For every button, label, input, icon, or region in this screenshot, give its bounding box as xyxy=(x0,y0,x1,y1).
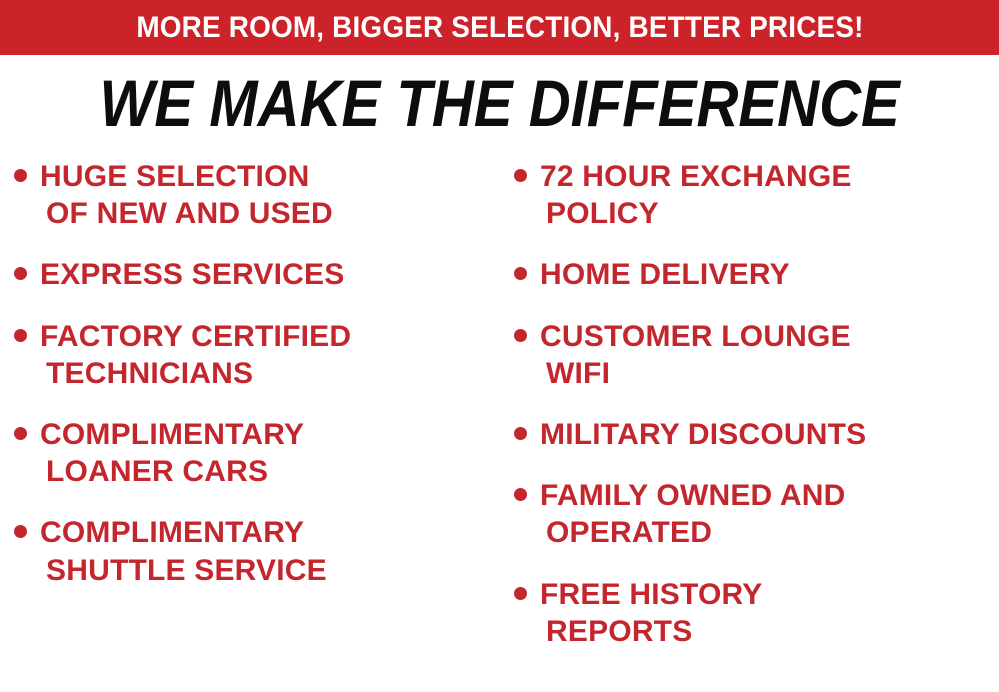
list-item: 72 HOUR EXCHANGEPOLICY xyxy=(514,158,999,232)
list-item-line2: POLICY xyxy=(540,195,852,232)
bullet-dot-icon xyxy=(514,267,527,280)
list-item-line2: REPORTS xyxy=(540,613,762,650)
list-item-line1: COMPLIMENTARY xyxy=(40,516,304,549)
list-item-label: HUGE SELECTIONOF NEW AND USED xyxy=(40,158,333,232)
bullet-dot-icon xyxy=(14,427,27,440)
list-item-label: COMPLIMENTARYSHUTTLE SERVICE xyxy=(40,514,327,588)
promo-banner: MORE ROOM, BIGGER SELECTION, BETTER PRIC… xyxy=(0,0,999,55)
list-item-line2: SHUTTLE SERVICE xyxy=(40,552,327,589)
bullet-dot-icon xyxy=(14,525,27,538)
list-item: MILITARY DISCOUNTS xyxy=(514,416,999,453)
bullet-dot-icon xyxy=(14,169,27,182)
list-item-label: HOME DELIVERY xyxy=(540,256,790,293)
promo-banner-text: MORE ROOM, BIGGER SELECTION, BETTER PRIC… xyxy=(136,13,863,43)
bullet-dot-icon xyxy=(514,488,527,501)
list-item-label: FACTORY CERTIFIEDTECHNICIANS xyxy=(40,318,351,392)
list-item-line1: FAMILY OWNED AND xyxy=(540,479,845,512)
list-item-label: COMPLIMENTARYLOANER CARS xyxy=(40,416,304,490)
list-item: COMPLIMENTARYSHUTTLE SERVICE xyxy=(14,514,494,588)
bullet-dot-icon xyxy=(514,587,527,600)
list-item-line1: FACTORY CERTIFIED xyxy=(40,320,351,353)
list-item-line2: WIFI xyxy=(540,355,851,392)
list-item-line1: FREE HISTORY xyxy=(540,578,762,611)
list-item-line2: TECHNICIANS xyxy=(40,355,351,392)
list-item: CUSTOMER LOUNGEWIFI xyxy=(514,318,999,392)
list-item-label: FREE HISTORYREPORTS xyxy=(540,576,762,650)
list-item-label: 72 HOUR EXCHANGEPOLICY xyxy=(540,158,852,232)
page-title: WE MAKE THE DIFFERENCE xyxy=(99,70,899,136)
list-item: EXPRESS SERVICES xyxy=(14,256,494,293)
list-item: COMPLIMENTARYLOANER CARS xyxy=(14,416,494,490)
feature-list-left: HUGE SELECTIONOF NEW AND USED EXPRESS SE… xyxy=(0,158,500,692)
bullet-dot-icon xyxy=(14,267,27,280)
bullet-dot-icon xyxy=(14,329,27,342)
list-item-line1: HOME DELIVERY xyxy=(540,258,790,291)
list-item-label: EXPRESS SERVICES xyxy=(40,256,344,293)
list-item: HUGE SELECTIONOF NEW AND USED xyxy=(14,158,494,232)
feature-list-right: 72 HOUR EXCHANGEPOLICY HOME DELIVERY CUS… xyxy=(500,158,999,692)
list-item-line2: LOANER CARS xyxy=(40,453,304,490)
list-item: HOME DELIVERY xyxy=(514,256,999,293)
bullet-dot-icon xyxy=(514,169,527,182)
feature-columns: HUGE SELECTIONOF NEW AND USED EXPRESS SE… xyxy=(0,158,999,692)
list-item-line1: HUGE SELECTION xyxy=(40,160,310,193)
list-item: FREE HISTORYREPORTS xyxy=(514,576,999,650)
list-item-line2: OF NEW AND USED xyxy=(40,195,333,232)
list-item-line2: OPERATED xyxy=(540,514,845,551)
list-item: FACTORY CERTIFIEDTECHNICIANS xyxy=(14,318,494,392)
bullet-dot-icon xyxy=(514,329,527,342)
list-item-line1: 72 HOUR EXCHANGE xyxy=(540,160,852,193)
bullet-dot-icon xyxy=(514,427,527,440)
list-item: FAMILY OWNED ANDOPERATED xyxy=(514,477,999,551)
list-item-label: CUSTOMER LOUNGEWIFI xyxy=(540,318,851,392)
list-item-line1: EXPRESS SERVICES xyxy=(40,258,344,291)
list-item-line1: COMPLIMENTARY xyxy=(40,418,304,451)
list-item-label: FAMILY OWNED ANDOPERATED xyxy=(540,477,845,551)
list-item-line1: CUSTOMER LOUNGE xyxy=(540,320,851,353)
headline-container: WE MAKE THE DIFFERENCE xyxy=(0,60,999,145)
list-item-line1: MILITARY DISCOUNTS xyxy=(540,418,866,451)
list-item-label: MILITARY DISCOUNTS xyxy=(540,416,866,453)
